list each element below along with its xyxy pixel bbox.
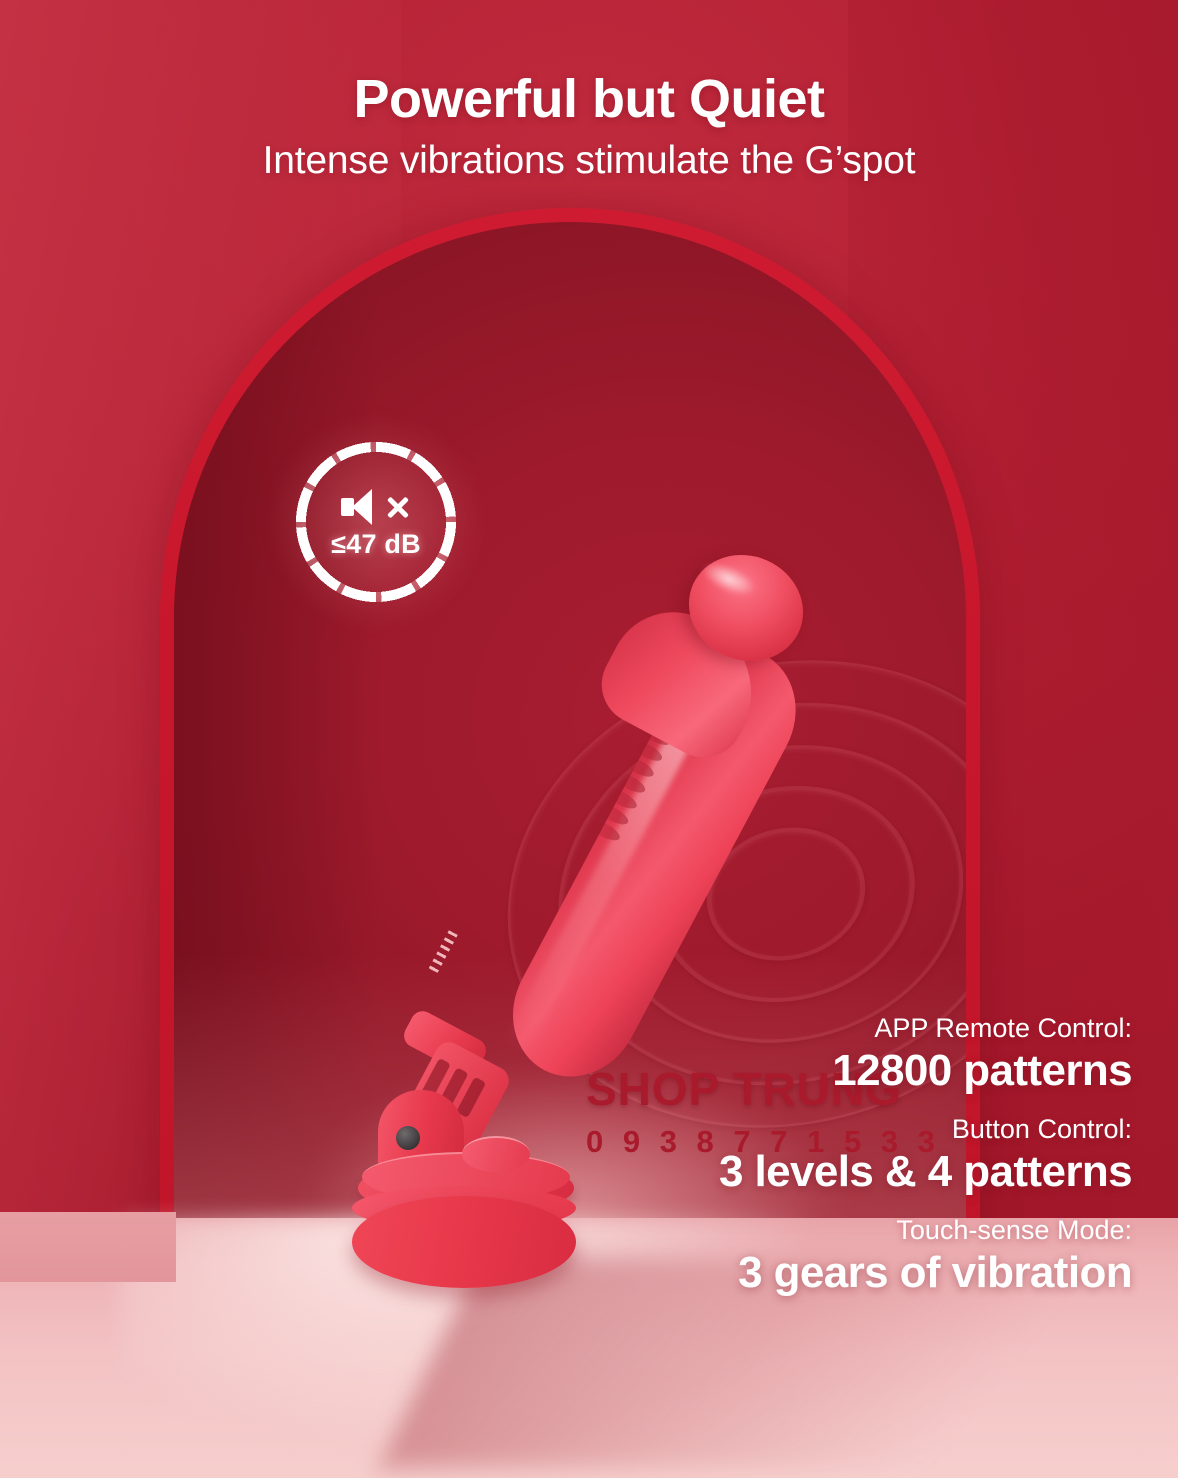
feature-label: Touch-sense Mode:	[492, 1214, 1132, 1248]
feature-item-button-control: Button Control: 3 levels & 4 patterns	[492, 1113, 1132, 1196]
mute-speaker-icon	[341, 489, 411, 525]
noise-level-badge: ≤47 dB	[286, 432, 466, 612]
page-subtitle: Intense vibrations stimulate the G’spot	[0, 139, 1178, 183]
feature-label: APP Remote Control:	[492, 1012, 1132, 1046]
page-title: Powerful but Quiet	[0, 72, 1178, 127]
badge-decibel-value: ≤47 dB	[331, 529, 421, 560]
hinge-pivot-icon	[396, 1126, 420, 1150]
badge-content: ≤47 dB	[304, 450, 448, 594]
feature-label: Button Control:	[492, 1113, 1132, 1147]
headline-block: Powerful but Quiet Intense vibrations st…	[0, 72, 1178, 183]
feature-item-touch-sense: Touch-sense Mode: 3 gears of vibration	[492, 1214, 1132, 1297]
product-seam-marks	[428, 930, 457, 974]
feature-value: 3 gears of vibration	[492, 1248, 1132, 1297]
feature-value: 3 levels & 4 patterns	[492, 1147, 1132, 1196]
product-feature-banner: ≤47 dB Powerful but Quiet Intense vibrat…	[0, 0, 1178, 1478]
feature-list: APP Remote Control: 12800 patterns Butto…	[492, 1012, 1132, 1307]
close-icon	[385, 494, 411, 520]
feature-value: 12800 patterns	[492, 1046, 1132, 1095]
feature-item-app-remote: APP Remote Control: 12800 patterns	[492, 1012, 1132, 1095]
speaker-icon	[341, 489, 379, 525]
